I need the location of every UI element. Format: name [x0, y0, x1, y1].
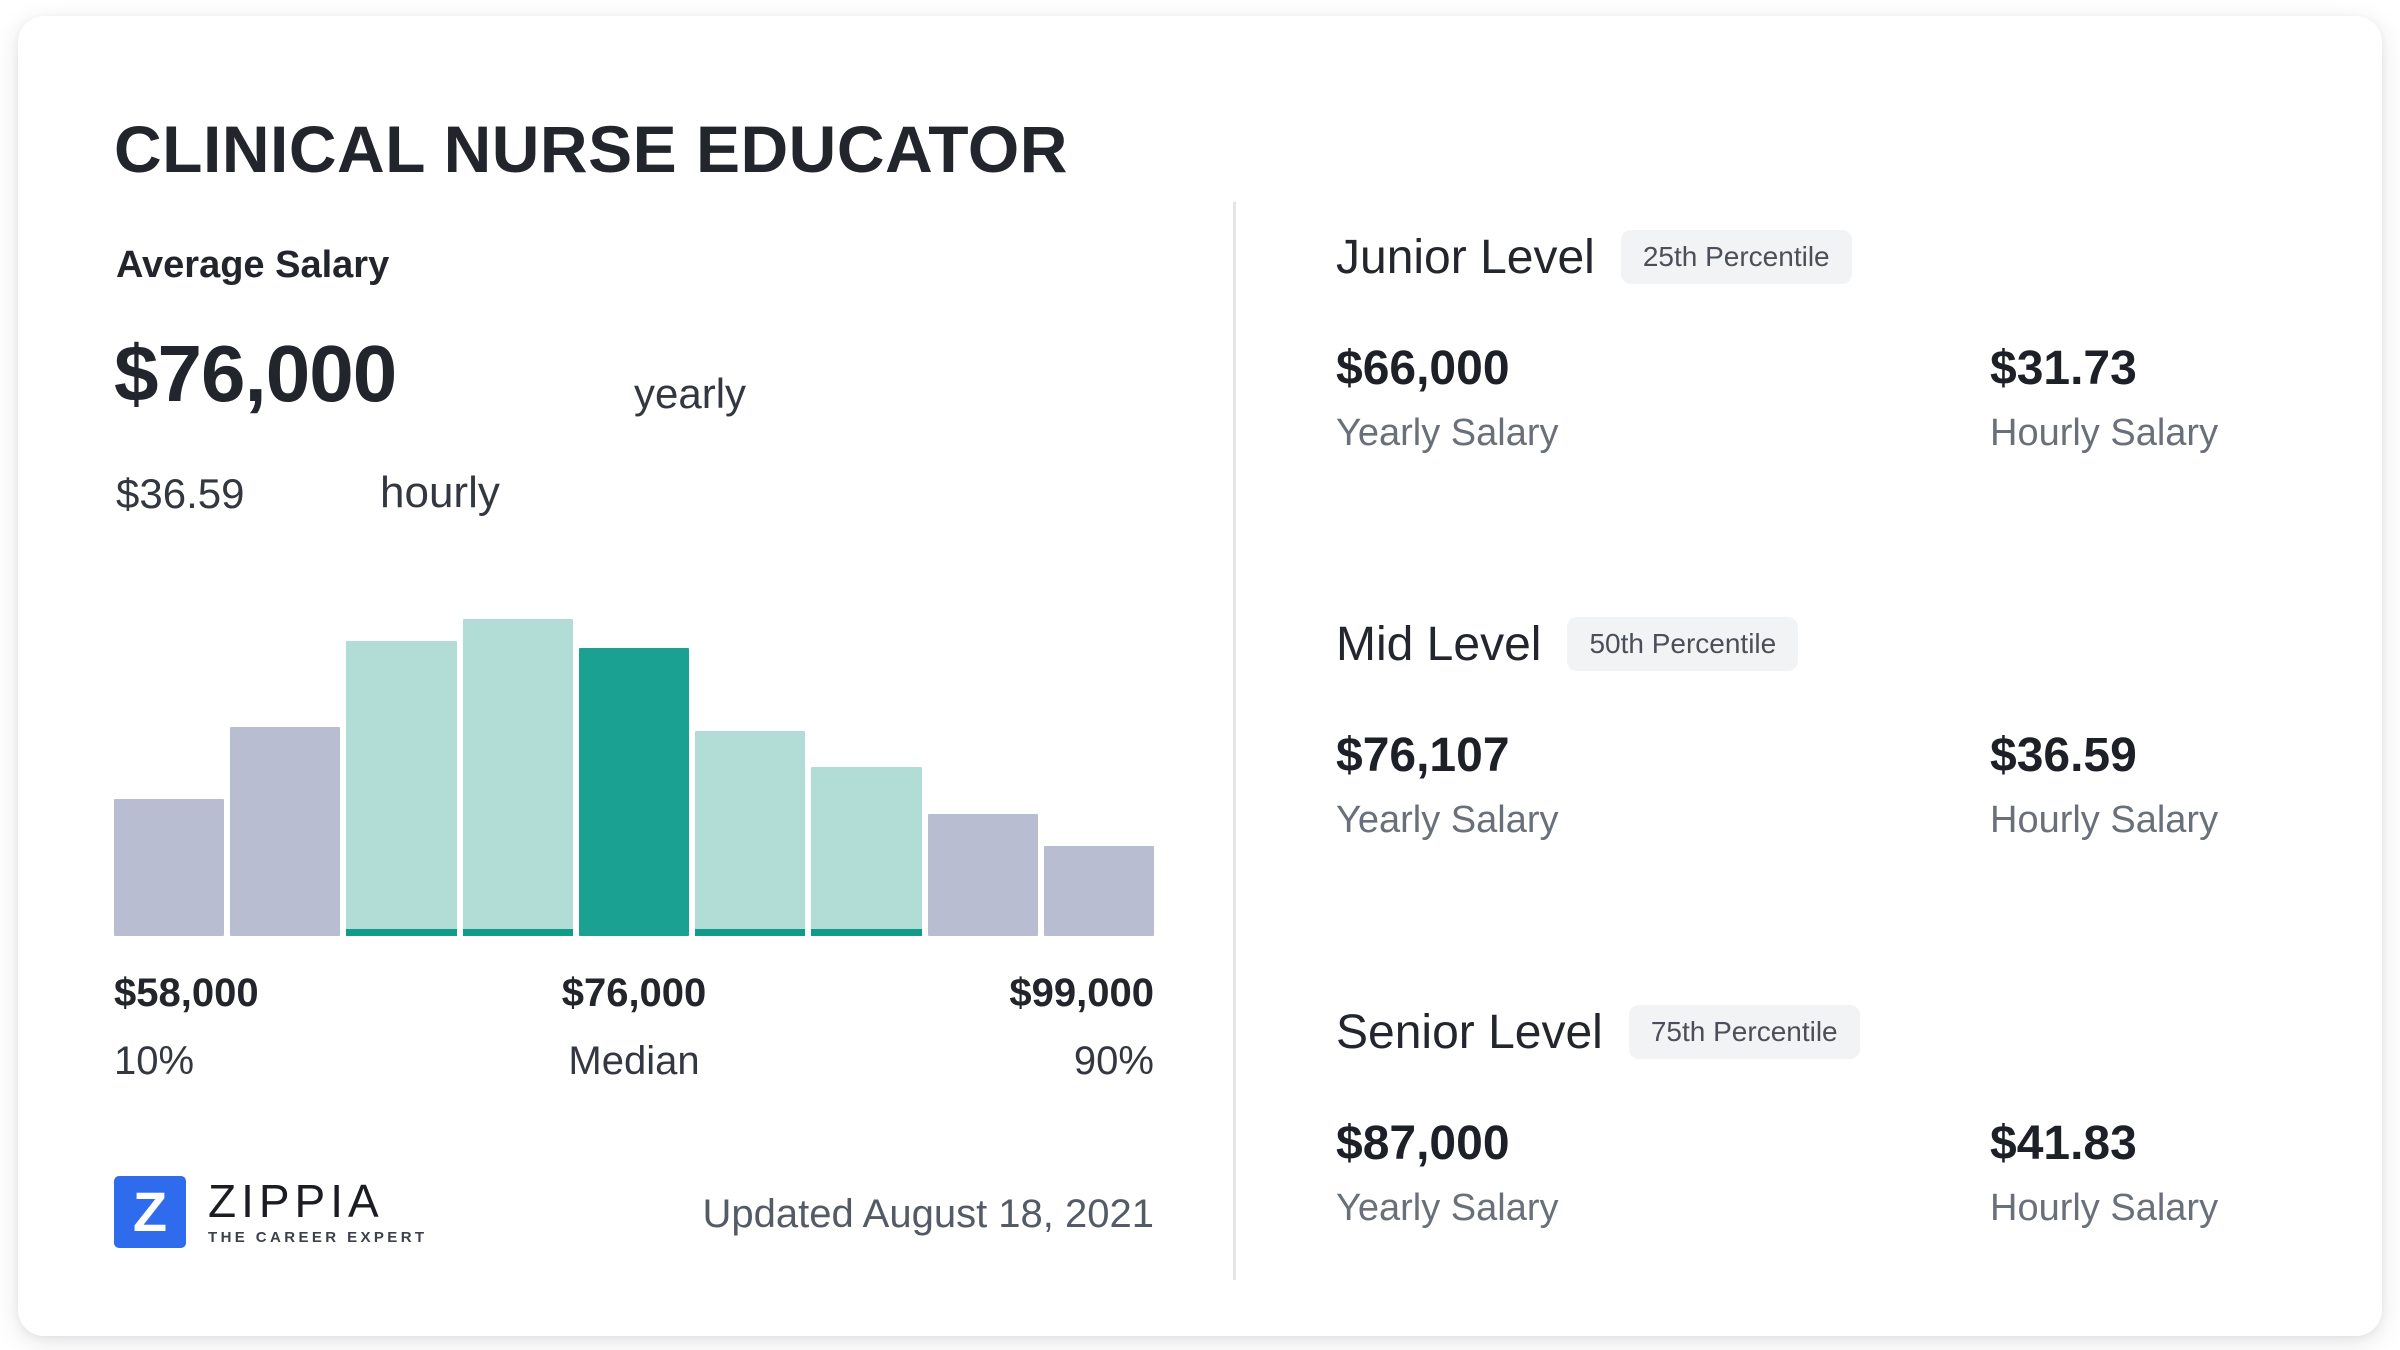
vertical-divider: [1233, 202, 1236, 1280]
chart-bar: [811, 767, 921, 936]
average-yearly-unit: yearly: [634, 370, 746, 418]
junior-hourly-amount: $31.73: [1990, 340, 2218, 398]
salary-card: CLINICAL NURSE EDUCATOR Average Salary $…: [0, 0, 2400, 1350]
chart-axis-labels: $58,000 $76,000 $99,000 10% Median 90%: [114, 971, 1154, 1121]
level-block-senior: Senior Level 75th Percentile $87,000 Yea…: [1336, 1001, 2316, 1245]
left-column: CLINICAL NURSE EDUCATOR Average Salary $…: [114, 16, 1234, 1336]
zippia-wordmark: ZIPPIA: [208, 1176, 428, 1226]
updated-timestamp: Updated August 18, 2021: [703, 1192, 1154, 1237]
level-figures-mid: $76,107 Yearly Salary $36.59 Hourly Sala…: [1336, 727, 2316, 857]
chart-bar: [346, 641, 456, 936]
senior-yearly-label: Yearly Salary: [1336, 1187, 1559, 1230]
chart-bar: [114, 799, 224, 936]
average-hourly-unit: hourly: [380, 468, 500, 518]
senior-hourly-figure: $41.83 Hourly Salary: [1990, 1115, 2218, 1230]
right-column: Junior Level 25th Percentile $66,000 Yea…: [1336, 16, 2316, 1336]
level-figures-senior: $87,000 Yearly Salary $41.83 Hourly Sala…: [1336, 1115, 2316, 1245]
level-header-senior: Senior Level 75th Percentile: [1336, 1001, 2316, 1063]
axis-amount-high: $99,000: [1009, 971, 1154, 1016]
status-badge-senior-percentile: 75th Percentile: [1629, 1005, 1860, 1059]
axis-percentile-high: 90%: [1074, 1039, 1154, 1084]
level-block-junior: Junior Level 25th Percentile $66,000 Yea…: [1336, 226, 2316, 470]
axis-amount-median: $76,000: [562, 971, 707, 1016]
level-block-mid: Mid Level 50th Percentile $76,107 Yearly…: [1336, 613, 2316, 857]
senior-hourly-amount: $41.83: [1990, 1115, 2218, 1173]
level-header-junior: Junior Level 25th Percentile: [1336, 226, 2316, 288]
axis-percentile-median: Median: [568, 1039, 699, 1084]
level-figures-junior: $66,000 Yearly Salary $31.73 Hourly Sala…: [1336, 340, 2316, 470]
mid-yearly-figure: $76,107 Yearly Salary: [1336, 727, 1559, 842]
level-name-mid: Mid Level: [1336, 617, 1541, 672]
senior-yearly-amount: $87,000: [1336, 1115, 1559, 1173]
level-name-junior: Junior Level: [1336, 230, 1595, 285]
zippia-tagline: THE CAREER EXPERT: [208, 1228, 428, 1248]
level-name-senior: Senior Level: [1336, 1005, 1603, 1060]
axis-amount-row: $58,000 $76,000 $99,000: [114, 971, 1154, 1016]
mid-hourly-amount: $36.59: [1990, 727, 2218, 785]
mid-hourly-figure: $36.59 Hourly Salary: [1990, 727, 2218, 842]
page-title: CLINICAL NURSE EDUCATOR: [114, 111, 1068, 187]
average-hourly-amount: $36.59: [116, 470, 244, 518]
axis-percentile-low: 10%: [114, 1039, 194, 1084]
axis-percentile-row: 10% Median 90%: [114, 1039, 1154, 1084]
junior-hourly-figure: $31.73 Hourly Salary: [1990, 340, 2218, 455]
salary-distribution-chart: [114, 576, 1154, 936]
mid-yearly-amount: $76,107: [1336, 727, 1559, 785]
chart-bar: [1044, 846, 1154, 936]
chart-bar: [928, 814, 1038, 936]
axis-amount-low: $58,000: [114, 971, 259, 1016]
chart-bar: [579, 648, 689, 936]
mid-yearly-label: Yearly Salary: [1336, 799, 1559, 842]
card-panel: CLINICAL NURSE EDUCATOR Average Salary $…: [18, 16, 2382, 1336]
junior-yearly-label: Yearly Salary: [1336, 412, 1559, 455]
level-header-mid: Mid Level 50th Percentile: [1336, 613, 2316, 675]
senior-hourly-label: Hourly Salary: [1990, 1187, 2218, 1230]
chart-bar: [230, 727, 340, 936]
senior-yearly-figure: $87,000 Yearly Salary: [1336, 1115, 1559, 1230]
zippia-logo-icon: Z: [114, 1176, 186, 1248]
chart-bar: [463, 619, 573, 936]
chart-bars: [114, 576, 1154, 936]
junior-hourly-label: Hourly Salary: [1990, 412, 2218, 455]
chart-bar: [695, 731, 805, 936]
logo-z-glyph: Z: [122, 1185, 178, 1239]
mid-hourly-label: Hourly Salary: [1990, 799, 2218, 842]
zippia-logo[interactable]: Z ZIPPIA THE CAREER EXPERT: [114, 1176, 428, 1248]
zippia-logo-text: ZIPPIA THE CAREER EXPERT: [208, 1176, 428, 1248]
status-badge-junior-percentile: 25th Percentile: [1621, 230, 1852, 284]
average-salary-label: Average Salary: [116, 244, 389, 287]
junior-yearly-figure: $66,000 Yearly Salary: [1336, 340, 1559, 455]
average-yearly-amount: $76,000: [114, 328, 396, 420]
junior-yearly-amount: $66,000: [1336, 340, 1559, 398]
status-badge-mid-percentile: 50th Percentile: [1567, 617, 1798, 671]
card-footer: Z ZIPPIA THE CAREER EXPERT Updated Augus…: [114, 1176, 1154, 1286]
